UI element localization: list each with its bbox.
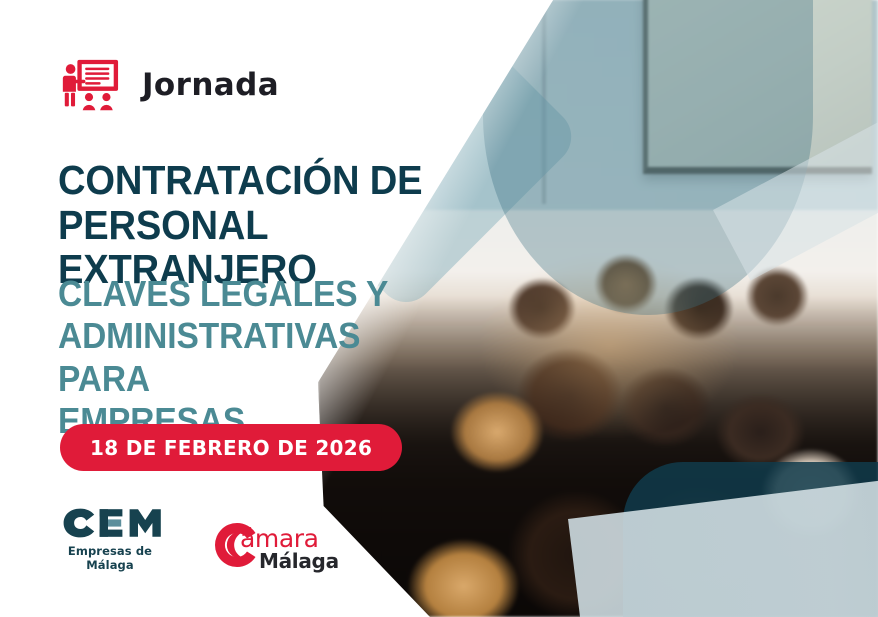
subheadline-line-2: ADMINISTRATIVAS PARA xyxy=(58,315,449,400)
cem-wordmark-icon xyxy=(60,505,180,541)
presentation-audience-icon xyxy=(58,54,120,116)
cem-tagline: Empresas de Málaga xyxy=(60,544,160,572)
camara-wordmark: ámara xyxy=(240,526,319,551)
kicker-label: Jornada xyxy=(142,70,279,101)
headline-line-1: CONTRATACIÓN DE xyxy=(58,158,430,203)
logo-row: Empresas de Málaga ámara Málaga xyxy=(60,505,334,572)
date-badge: 18 DE FEBRERO DE 2026 xyxy=(60,424,402,471)
page-subtitle: CLAVES LEGALES Y ADMINISTRATIVAS PARA EM… xyxy=(58,273,449,443)
event-banner: Jornada CONTRATACIÓN DE PERSONAL EXTRANJ… xyxy=(0,0,878,617)
content-column: Jornada CONTRATACIÓN DE PERSONAL EXTRANJ… xyxy=(0,0,470,617)
subheadline-line-1: CLAVES LEGALES Y xyxy=(58,273,449,315)
cem-logo: Empresas de Málaga xyxy=(60,505,180,572)
camara-malaga-logo: ámara Málaga xyxy=(214,520,334,572)
kicker: Jornada xyxy=(58,54,279,116)
camara-subline: Málaga xyxy=(259,551,339,571)
page-title: CONTRATACIÓN DE PERSONAL EXTRANJERO xyxy=(58,158,430,292)
